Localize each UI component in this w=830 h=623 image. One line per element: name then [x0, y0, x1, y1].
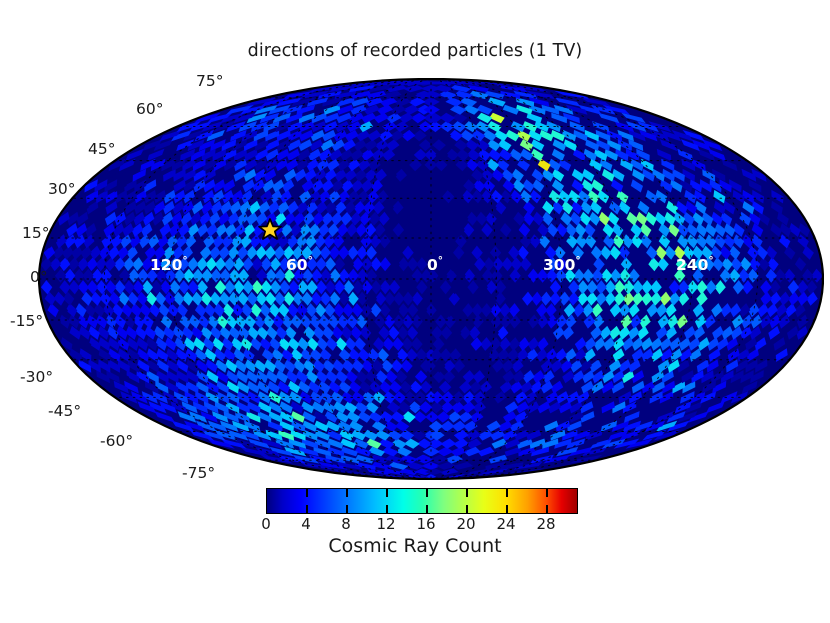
sky-map-svg: [38, 78, 824, 480]
degree-symbol: °: [182, 255, 187, 267]
degree-symbol: °: [575, 255, 580, 267]
lon-tick-label: 300°: [543, 255, 581, 274]
lat-tick-label: 75°: [196, 72, 223, 90]
colorbar-tick-mark: [426, 505, 428, 513]
lon-tick-value: 60: [286, 256, 308, 274]
colorbar-tick-label: 20: [456, 515, 475, 533]
colorbar-tick-label: 28: [536, 515, 555, 533]
colorbar-tick-mark: [306, 489, 308, 497]
colorbar-tick-mark: [466, 489, 468, 497]
lat-tick-label: 60°: [136, 100, 163, 118]
colorbar-tick-mark: [506, 505, 508, 513]
lon-tick-label: 240°: [676, 255, 714, 274]
lon-tick-value: 240: [676, 256, 708, 274]
lat-tick-label: -75°: [182, 464, 215, 482]
sky-map[interactable]: [38, 78, 824, 480]
colorbar-tick-label: 24: [496, 515, 515, 533]
colorbar-tick-mark: [466, 505, 468, 513]
lat-tick-label: 0°: [30, 268, 48, 286]
lon-tick-value: 300: [543, 256, 575, 274]
lon-tick-label: 120°: [150, 255, 188, 274]
lat-tick-label: -15°: [10, 312, 43, 330]
colorbar-gradient: [266, 488, 578, 514]
lon-tick-label: 60°: [286, 255, 313, 274]
colorbar-tick-label: 16: [416, 515, 435, 533]
lat-tick-label: -45°: [48, 402, 81, 420]
degree-symbol: °: [708, 255, 713, 267]
lat-tick-label: -60°: [100, 432, 133, 450]
colorbar-tick-mark: [426, 489, 428, 497]
colorbar-tick-mark: [346, 505, 348, 513]
colorbar-tick-mark: [306, 505, 308, 513]
colorbar-tick-mark: [386, 505, 388, 513]
lon-tick-label: 0°: [427, 255, 443, 274]
colorbar-tick-label: 12: [376, 515, 395, 533]
colorbar[interactable]: 0481216202428: [266, 488, 580, 514]
colorbar-tick-mark: [386, 489, 388, 497]
degree-symbol: °: [438, 255, 443, 267]
lat-tick-label: 30°: [48, 180, 75, 198]
degree-symbol: °: [308, 255, 313, 267]
colorbar-tick-mark: [546, 505, 548, 513]
colorbar-axis-label: Cosmic Ray Count: [0, 535, 830, 557]
lat-tick-label: 15°: [22, 224, 49, 242]
lon-tick-value: 120: [150, 256, 182, 274]
colorbar-tick-label: 4: [301, 515, 311, 533]
page-title: directions of recorded particles (1 TV): [0, 41, 830, 61]
colorbar-tick-mark: [546, 489, 548, 497]
colorbar-tick-label: 8: [341, 515, 351, 533]
colorbar-tick-mark: [506, 489, 508, 497]
colorbar-tick-mark: [346, 489, 348, 497]
lat-tick-label: 45°: [88, 140, 115, 158]
figure-canvas: directions of recorded particles (1 TV): [0, 0, 830, 623]
lat-tick-label: -30°: [20, 368, 53, 386]
colorbar-tick-label: 0: [261, 515, 271, 533]
lon-tick-value: 0: [427, 256, 438, 274]
